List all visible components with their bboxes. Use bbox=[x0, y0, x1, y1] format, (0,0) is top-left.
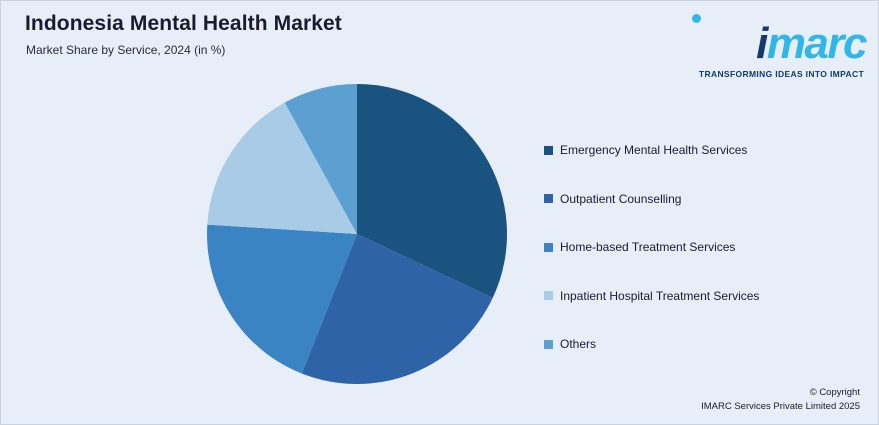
chart-page: Indonesia Mental Health Market Market Sh… bbox=[0, 0, 879, 425]
legend-swatch-icon bbox=[544, 146, 553, 155]
page-subtitle: Market Share by Service, 2024 (in %) bbox=[26, 43, 225, 57]
legend-label: Inpatient Hospital Treatment Services bbox=[560, 289, 759, 303]
logo-dot-icon bbox=[692, 14, 701, 23]
pie-chart bbox=[206, 83, 508, 385]
footer: © Copyright IMARC Services Private Limit… bbox=[701, 386, 860, 414]
logo-word-i: i bbox=[756, 19, 767, 68]
legend-swatch-icon bbox=[544, 340, 553, 349]
pie-slices bbox=[207, 84, 507, 384]
legend-item: Emergency Mental Health Services bbox=[544, 126, 864, 175]
legend-label: Others bbox=[560, 337, 596, 351]
legend-label: Outpatient Counselling bbox=[560, 192, 681, 206]
logo-word-rest: marc bbox=[767, 19, 866, 68]
legend-swatch-icon bbox=[544, 243, 553, 252]
legend-item: Others bbox=[544, 320, 864, 369]
pie-chart-svg bbox=[206, 83, 508, 385]
legend-swatch-icon bbox=[544, 291, 553, 300]
logo-wordmark: imarc bbox=[756, 19, 866, 69]
legend-swatch-icon bbox=[544, 194, 553, 203]
footer-company: IMARC Services Private Limited 2025 bbox=[701, 400, 860, 414]
page-title: Indonesia Mental Health Market bbox=[25, 12, 342, 36]
legend-label: Emergency Mental Health Services bbox=[560, 143, 747, 157]
legend-label: Home-based Treatment Services bbox=[560, 240, 735, 254]
chart-legend: Emergency Mental Health ServicesOutpatie… bbox=[544, 126, 864, 369]
legend-item: Outpatient Counselling bbox=[544, 175, 864, 224]
logo-tagline: TRANSFORMING IDEAS INTO IMPACT bbox=[699, 69, 864, 79]
legend-item: Home-based Treatment Services bbox=[544, 223, 864, 272]
footer-copyright: © Copyright bbox=[701, 386, 860, 400]
legend-item: Inpatient Hospital Treatment Services bbox=[544, 272, 864, 321]
imarc-logo: imarc TRANSFORMING IDEAS INTO IMPACT bbox=[676, 9, 866, 77]
